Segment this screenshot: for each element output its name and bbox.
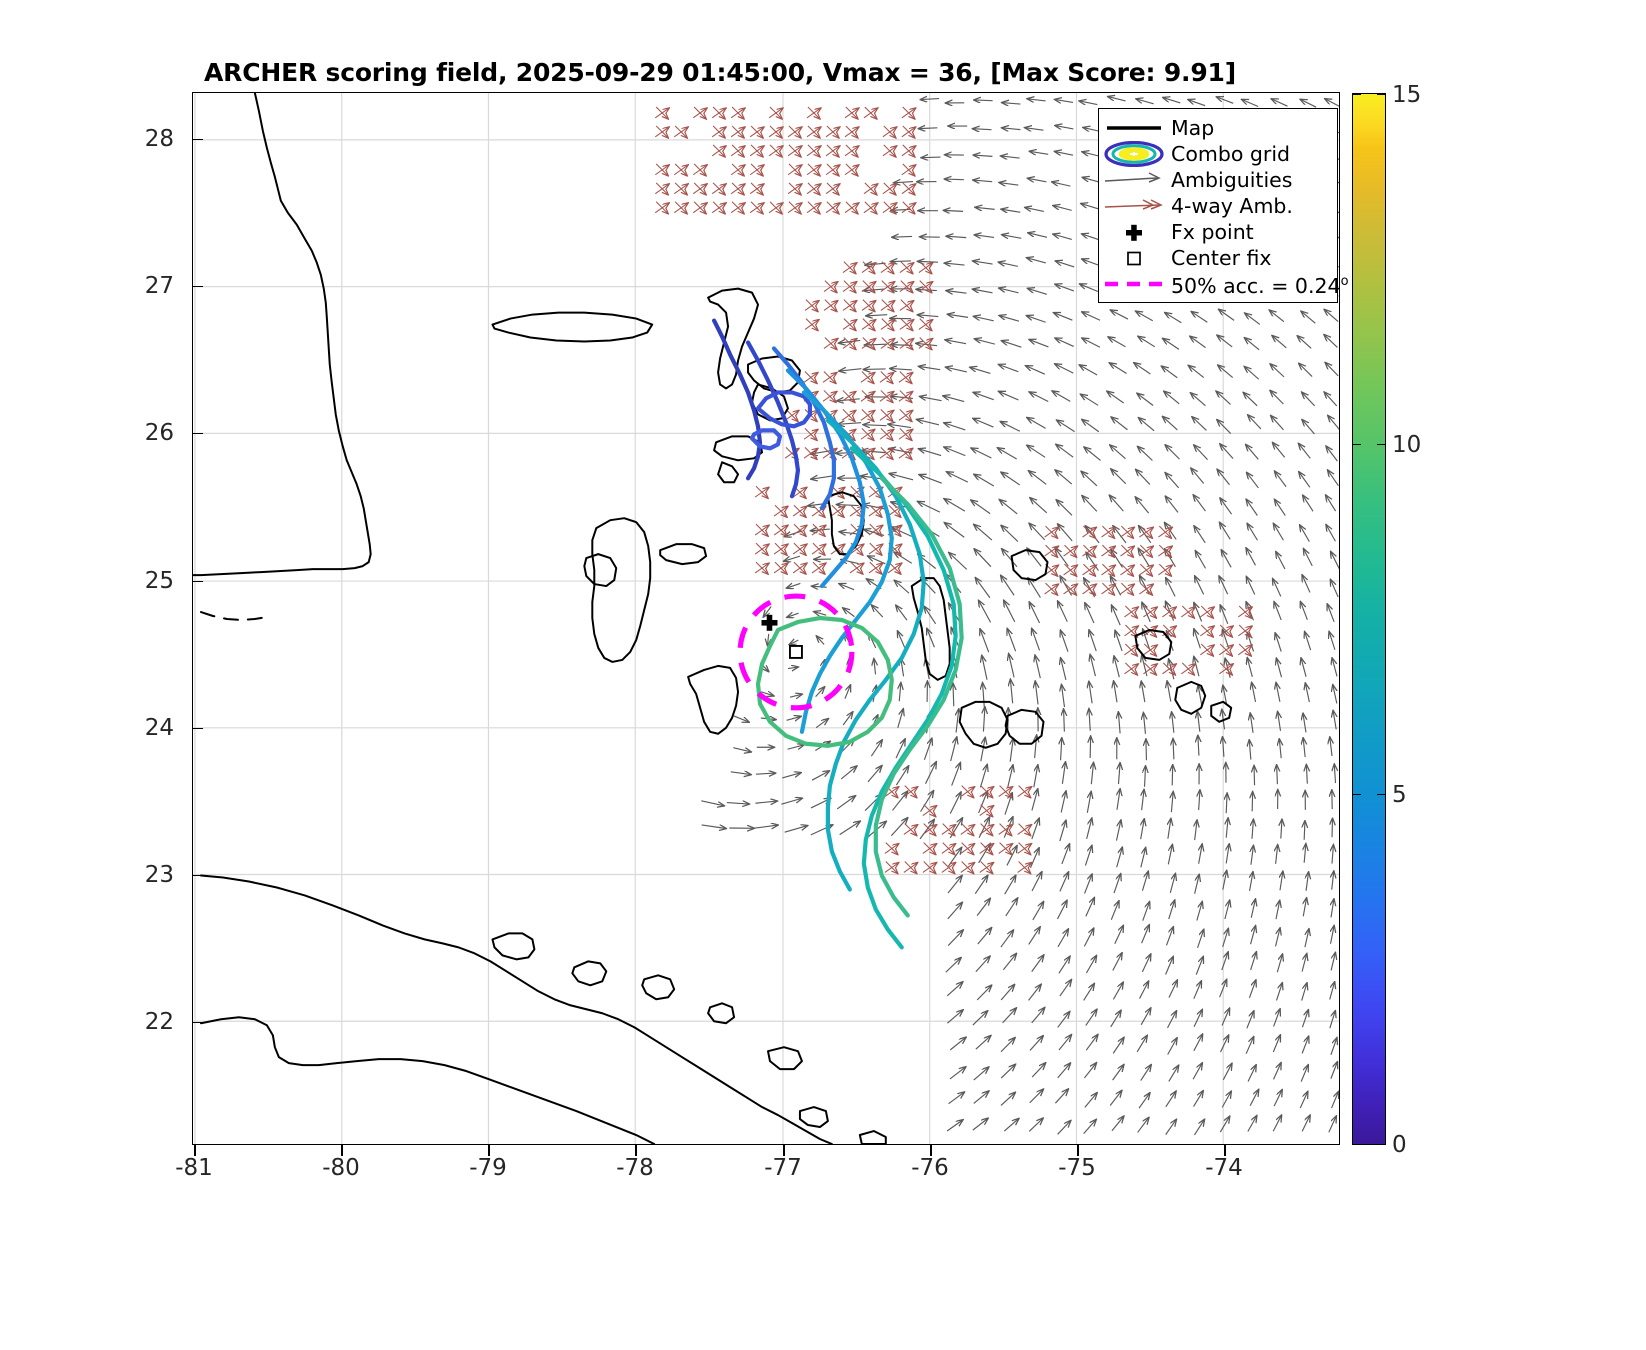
colorbar-label-5: 5 — [1392, 782, 1407, 808]
x-tick-label-m80: -80 — [296, 1155, 386, 1181]
legend-item-combo-grid[interactable]: Combo grid — [1099, 141, 1337, 167]
legend[interactable]: Map Combo grid Ambiguities — [1098, 108, 1338, 303]
x-tick-label-m77: -77 — [738, 1155, 828, 1181]
combo-grid-contours — [714, 321, 962, 948]
legend-label-4way-amb: 4-way Amb. — [1171, 193, 1293, 219]
red-double-arrow-icon — [1099, 193, 1171, 219]
y-tick-label-28: 28 — [110, 126, 174, 152]
x-tick-label-m74: -74 — [1179, 1155, 1269, 1181]
colorbar-label-15: 15 — [1392, 82, 1421, 108]
legend-item-center-fix[interactable]: Center fix — [1099, 245, 1337, 271]
colorbar-tick-15 — [1352, 94, 1361, 95]
y-tick-label-22: 22 — [110, 1009, 174, 1035]
figure-canvas: ARCHER scoring field, 2025-09-29 01:45:0… — [0, 0, 1646, 1350]
gray-arrow-icon — [1099, 167, 1171, 193]
center-fix-marker[interactable] — [790, 646, 802, 658]
colorbar-label-10: 10 — [1392, 432, 1421, 458]
square-marker-icon — [1099, 245, 1171, 271]
plus-marker-icon — [1099, 219, 1171, 245]
colorbar-tick-15-right — [1377, 94, 1386, 95]
colorbar-tick-10 — [1352, 444, 1361, 445]
coastline-map — [193, 93, 1231, 1144]
legend-item-map[interactable]: Map — [1099, 115, 1337, 141]
y-tick-label-26: 26 — [110, 420, 174, 446]
x-tick-label-m78: -78 — [590, 1155, 680, 1181]
colorbar-tick-5-right — [1377, 794, 1386, 795]
magenta-dashed-line-icon — [1099, 271, 1171, 297]
y-tick-label-23: 23 — [110, 862, 174, 888]
colorbar-tick-5 — [1352, 794, 1361, 795]
colorbar-tick-0-right — [1377, 1144, 1386, 1145]
legend-label-combo-grid: Combo grid — [1171, 141, 1290, 167]
legend-label-fx-point: Fx point — [1171, 219, 1254, 245]
x-tick-label-m75: -75 — [1032, 1155, 1122, 1181]
colorbar-tick-10-right — [1377, 444, 1386, 445]
legend-label-ambiguities: Ambiguities — [1171, 167, 1292, 193]
colorbar[interactable] — [1352, 93, 1386, 1145]
y-tick-label-27: 27 — [110, 273, 174, 299]
solid-black-line-icon — [1099, 115, 1171, 141]
colorbar-tick-0 — [1352, 1144, 1361, 1145]
legend-item-ambiguities[interactable]: Ambiguities — [1099, 167, 1337, 193]
x-tick-label-m79: -79 — [443, 1155, 533, 1181]
legend-item-fx-point[interactable]: Fx point — [1099, 219, 1337, 245]
y-tick-27 — [192, 286, 203, 288]
fx-point-marker[interactable] — [762, 615, 778, 631]
y-tick-22 — [192, 1022, 203, 1024]
y-tick-23 — [192, 875, 203, 877]
legend-label-map: Map — [1171, 115, 1214, 141]
y-tick-label-24: 24 — [110, 715, 174, 741]
y-tick-24 — [192, 728, 203, 730]
legend-item-4way-amb[interactable]: 4-way Amb. — [1099, 193, 1337, 219]
page-title: ARCHER scoring field, 2025-09-29 01:45:0… — [0, 58, 1440, 87]
y-tick-25 — [192, 581, 203, 583]
y-tick-28 — [192, 139, 203, 141]
contour-rings-icon — [1099, 141, 1171, 167]
x-tick-label-m76: -76 — [885, 1155, 975, 1181]
y-tick-label-25: 25 — [110, 568, 174, 594]
legend-label-accuracy-degree: o — [1341, 274, 1349, 289]
legend-label-accuracy: 50% acc. = 0.24o — [1171, 269, 1349, 299]
x-tick-label-m81: -81 — [149, 1155, 239, 1181]
colorbar-label-0: 0 — [1392, 1132, 1407, 1158]
legend-label-accuracy-text: 50% acc. = 0.24 — [1171, 274, 1341, 298]
legend-item-accuracy[interactable]: 50% acc. = 0.24o — [1099, 271, 1337, 297]
y-tick-26 — [192, 433, 203, 435]
legend-label-center-fix: Center fix — [1171, 245, 1272, 271]
